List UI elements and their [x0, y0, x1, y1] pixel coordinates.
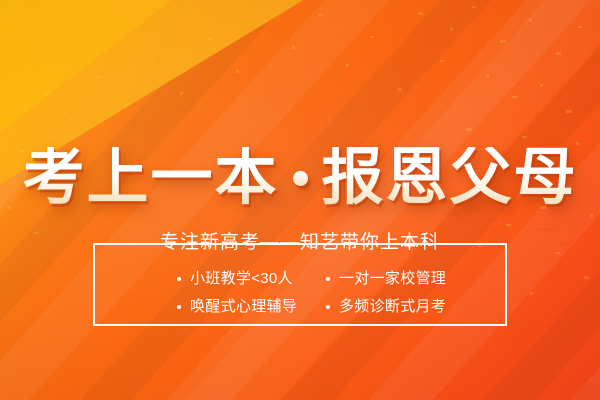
feature-label: 一对一家校管理 — [339, 268, 446, 290]
feature-list: 小班教学<30人 一对一家校管理 唤醒式心理辅导 多频诊断式月考 — [93, 268, 507, 318]
feature-item: 唤醒式心理辅导 — [93, 296, 300, 318]
subtitle-text: 专注新高考——知艺带你上本科 — [150, 231, 450, 255]
middle-dot-icon — [293, 171, 308, 186]
promo-banner: 考上一本 报恩父母 专注新高考——知艺带你上本科 小班教学<30人 一对一家校管… — [0, 0, 600, 400]
bullet-dot-icon — [326, 277, 330, 281]
headline-left-text: 考上一本 — [22, 147, 278, 209]
feature-label: 小班教学<30人 — [190, 268, 293, 290]
headline: 考上一本 报恩父母 — [0, 138, 600, 218]
subtitle: 专注新高考——知艺带你上本科 — [0, 231, 600, 255]
feature-item: 小班教学<30人 — [93, 268, 300, 290]
bullet-dot-icon — [326, 305, 330, 309]
bullet-dot-icon — [177, 305, 181, 309]
headline-right-text: 报恩父母 — [322, 147, 578, 209]
feature-item: 一对一家校管理 — [300, 268, 507, 290]
feature-label: 多频诊断式月考 — [339, 296, 446, 318]
bullet-dot-icon — [177, 277, 181, 281]
feature-item: 多频诊断式月考 — [300, 296, 507, 318]
feature-label: 唤醒式心理辅导 — [190, 296, 297, 318]
